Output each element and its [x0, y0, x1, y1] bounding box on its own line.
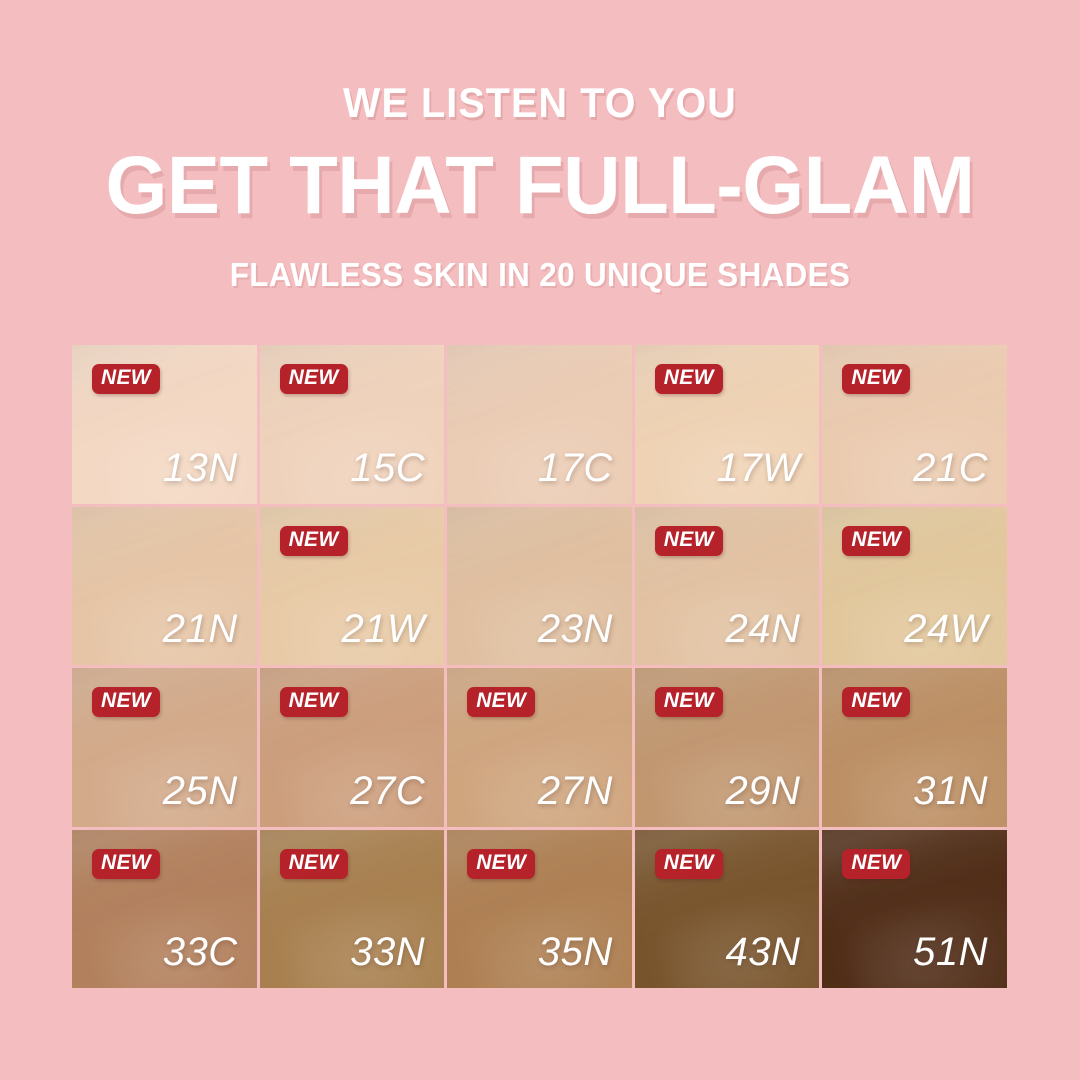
- swatch-gloss-highlight: [447, 830, 632, 934]
- swatch-smear-shadow: [447, 345, 628, 458]
- shade-swatch[interactable]: NEW21C: [822, 345, 1007, 504]
- swatch-gloss-highlight: [635, 345, 820, 449]
- swatch-gloss-highlight: [635, 830, 820, 934]
- swatch-smear-shadow: [822, 668, 1003, 781]
- swatch-gloss-highlight: [260, 507, 445, 611]
- new-badge: NEW: [842, 849, 910, 879]
- page-title: GET THAT FULL-GLAM: [16, 145, 1064, 227]
- swatch-smear-shadow: [260, 668, 441, 781]
- swatch-smear-shadow: [822, 830, 1003, 943]
- new-badge: NEW: [655, 364, 723, 394]
- shade-swatch[interactable]: NEW31N: [822, 668, 1007, 827]
- swatch-gloss-highlight: [447, 668, 632, 772]
- swatch-smear-shadow: [447, 507, 628, 620]
- shade-swatch[interactable]: NEW21W: [260, 507, 445, 666]
- new-badge: NEW: [280, 849, 348, 879]
- new-badge: NEW: [280, 526, 348, 556]
- shade-swatch[interactable]: NEW29N: [635, 668, 820, 827]
- shade-code-label: 17C: [538, 448, 613, 488]
- shade-code-label: 24W: [904, 609, 988, 649]
- new-badge: NEW: [280, 687, 348, 717]
- shade-code-label: 15C: [350, 448, 425, 488]
- shade-swatch[interactable]: NEW51N: [822, 830, 1007, 989]
- shade-code-label: 13N: [163, 448, 238, 488]
- shade-code-label: 25N: [163, 771, 238, 811]
- shade-swatch[interactable]: 17C: [447, 345, 632, 504]
- swatch-gloss-highlight: [72, 507, 257, 611]
- shade-swatch[interactable]: NEW27C: [260, 668, 445, 827]
- shade-code-label: 33C: [163, 932, 238, 972]
- shade-code-label: 29N: [726, 771, 801, 811]
- swatch-gloss-highlight: [822, 345, 1007, 449]
- shade-code-label: 31N: [913, 771, 988, 811]
- shade-swatch[interactable]: NEW24W: [822, 507, 1007, 666]
- swatch-gloss-highlight: [635, 668, 820, 772]
- new-badge: NEW: [842, 364, 910, 394]
- swatch-smear-shadow: [635, 507, 816, 620]
- swatch-gloss-highlight: [72, 345, 257, 449]
- swatch-gloss-highlight: [822, 830, 1007, 934]
- shade-code-label: 17W: [717, 448, 801, 488]
- shade-swatch[interactable]: 21N: [72, 507, 257, 666]
- shade-swatch[interactable]: NEW33N: [260, 830, 445, 989]
- swatch-smear-shadow: [260, 507, 441, 620]
- promo-graphic: WE LISTEN TO YOU GET THAT FULL-GLAM FLAW…: [0, 0, 1080, 1080]
- new-badge: NEW: [655, 526, 723, 556]
- shade-swatch[interactable]: NEW35N: [447, 830, 632, 989]
- shade-code-label: 51N: [913, 932, 988, 972]
- swatch-smear-shadow: [260, 345, 441, 458]
- swatch-smear-shadow: [635, 830, 816, 943]
- shade-code-label: 27C: [350, 771, 425, 811]
- shade-swatch[interactable]: NEW27N: [447, 668, 632, 827]
- swatch-gloss-highlight: [635, 507, 820, 611]
- subtitle-text: FLAWLESS SKIN IN 20 UNIQUE SHADES: [27, 258, 1053, 291]
- swatch-smear-shadow: [635, 668, 816, 781]
- shade-code-label: 24N: [726, 609, 801, 649]
- shade-code-label: 43N: [726, 932, 801, 972]
- swatch-gloss-highlight: [447, 507, 632, 611]
- swatch-gloss-highlight: [447, 345, 632, 449]
- headline-block: WE LISTEN TO YOU GET THAT FULL-GLAM FLAW…: [0, 82, 1080, 291]
- swatch-gloss-highlight: [72, 668, 257, 772]
- swatch-smear-shadow: [72, 507, 253, 620]
- swatch-gloss-highlight: [822, 668, 1007, 772]
- swatch-smear-shadow: [72, 668, 253, 781]
- new-badge: NEW: [92, 364, 160, 394]
- swatch-smear-shadow: [822, 345, 1003, 458]
- shade-swatch[interactable]: 23N: [447, 507, 632, 666]
- shade-swatch[interactable]: NEW43N: [635, 830, 820, 989]
- new-badge: NEW: [655, 687, 723, 717]
- swatch-gloss-highlight: [822, 507, 1007, 611]
- swatch-smear-shadow: [72, 830, 253, 943]
- shade-code-label: 21C: [913, 448, 988, 488]
- shade-code-label: 27N: [538, 771, 613, 811]
- shade-swatch[interactable]: NEW13N: [72, 345, 257, 504]
- swatch-smear-shadow: [72, 345, 253, 458]
- new-badge: NEW: [280, 364, 348, 394]
- shade-code-label: 33N: [350, 932, 425, 972]
- new-badge: NEW: [92, 687, 160, 717]
- swatch-smear-shadow: [447, 830, 628, 943]
- swatch-smear-shadow: [635, 345, 816, 458]
- shade-swatch[interactable]: NEW33C: [72, 830, 257, 989]
- shade-code-label: 23N: [538, 609, 613, 649]
- swatch-gloss-highlight: [260, 345, 445, 449]
- new-badge: NEW: [655, 849, 723, 879]
- new-badge: NEW: [467, 849, 535, 879]
- shade-code-label: 21W: [341, 609, 425, 649]
- new-badge: NEW: [842, 526, 910, 556]
- swatch-smear-shadow: [447, 668, 628, 781]
- shade-swatch-grid: NEW13NNEW15C17CNEW17WNEW21C21NNEW21W23NN…: [72, 345, 1007, 988]
- eyebrow-text: WE LISTEN TO YOU: [32, 82, 1047, 124]
- new-badge: NEW: [92, 849, 160, 879]
- shade-code-label: 21N: [163, 609, 238, 649]
- new-badge: NEW: [842, 687, 910, 717]
- swatch-smear-shadow: [822, 507, 1003, 620]
- swatch-smear-shadow: [260, 830, 441, 943]
- shade-code-label: 35N: [538, 932, 613, 972]
- swatch-gloss-highlight: [260, 668, 445, 772]
- shade-swatch[interactable]: NEW15C: [260, 345, 445, 504]
- shade-swatch[interactable]: NEW17W: [635, 345, 820, 504]
- swatch-gloss-highlight: [72, 830, 257, 934]
- new-badge: NEW: [467, 687, 535, 717]
- shade-swatch[interactable]: NEW24N: [635, 507, 820, 666]
- swatch-gloss-highlight: [260, 830, 445, 934]
- shade-swatch[interactable]: NEW25N: [72, 668, 257, 827]
